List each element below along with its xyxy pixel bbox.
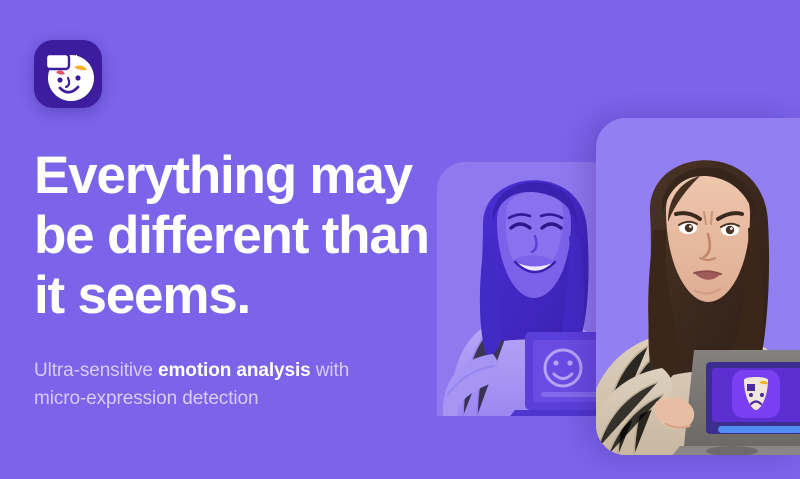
concerned-woman-illustration [596, 118, 800, 455]
app-logo-badge[interactable] [34, 40, 102, 108]
subtitle-emphasis: emotion analysis [158, 360, 311, 381]
hero-text-column: Everything may be different than it seem… [34, 40, 434, 413]
sad-mask-app-icon [732, 370, 780, 418]
photo-concerned-woman [596, 118, 800, 455]
hero-subtitle: Ultra-sensitive emotion analysis with mi… [34, 357, 386, 413]
page-title: Everything may be different than it seem… [34, 146, 434, 326]
promo-banner: Everything may be different than it seem… [0, 0, 800, 479]
video-face-logo-icon [34, 40, 102, 108]
subtitle-lead: Ultra-sensitive [34, 360, 158, 381]
